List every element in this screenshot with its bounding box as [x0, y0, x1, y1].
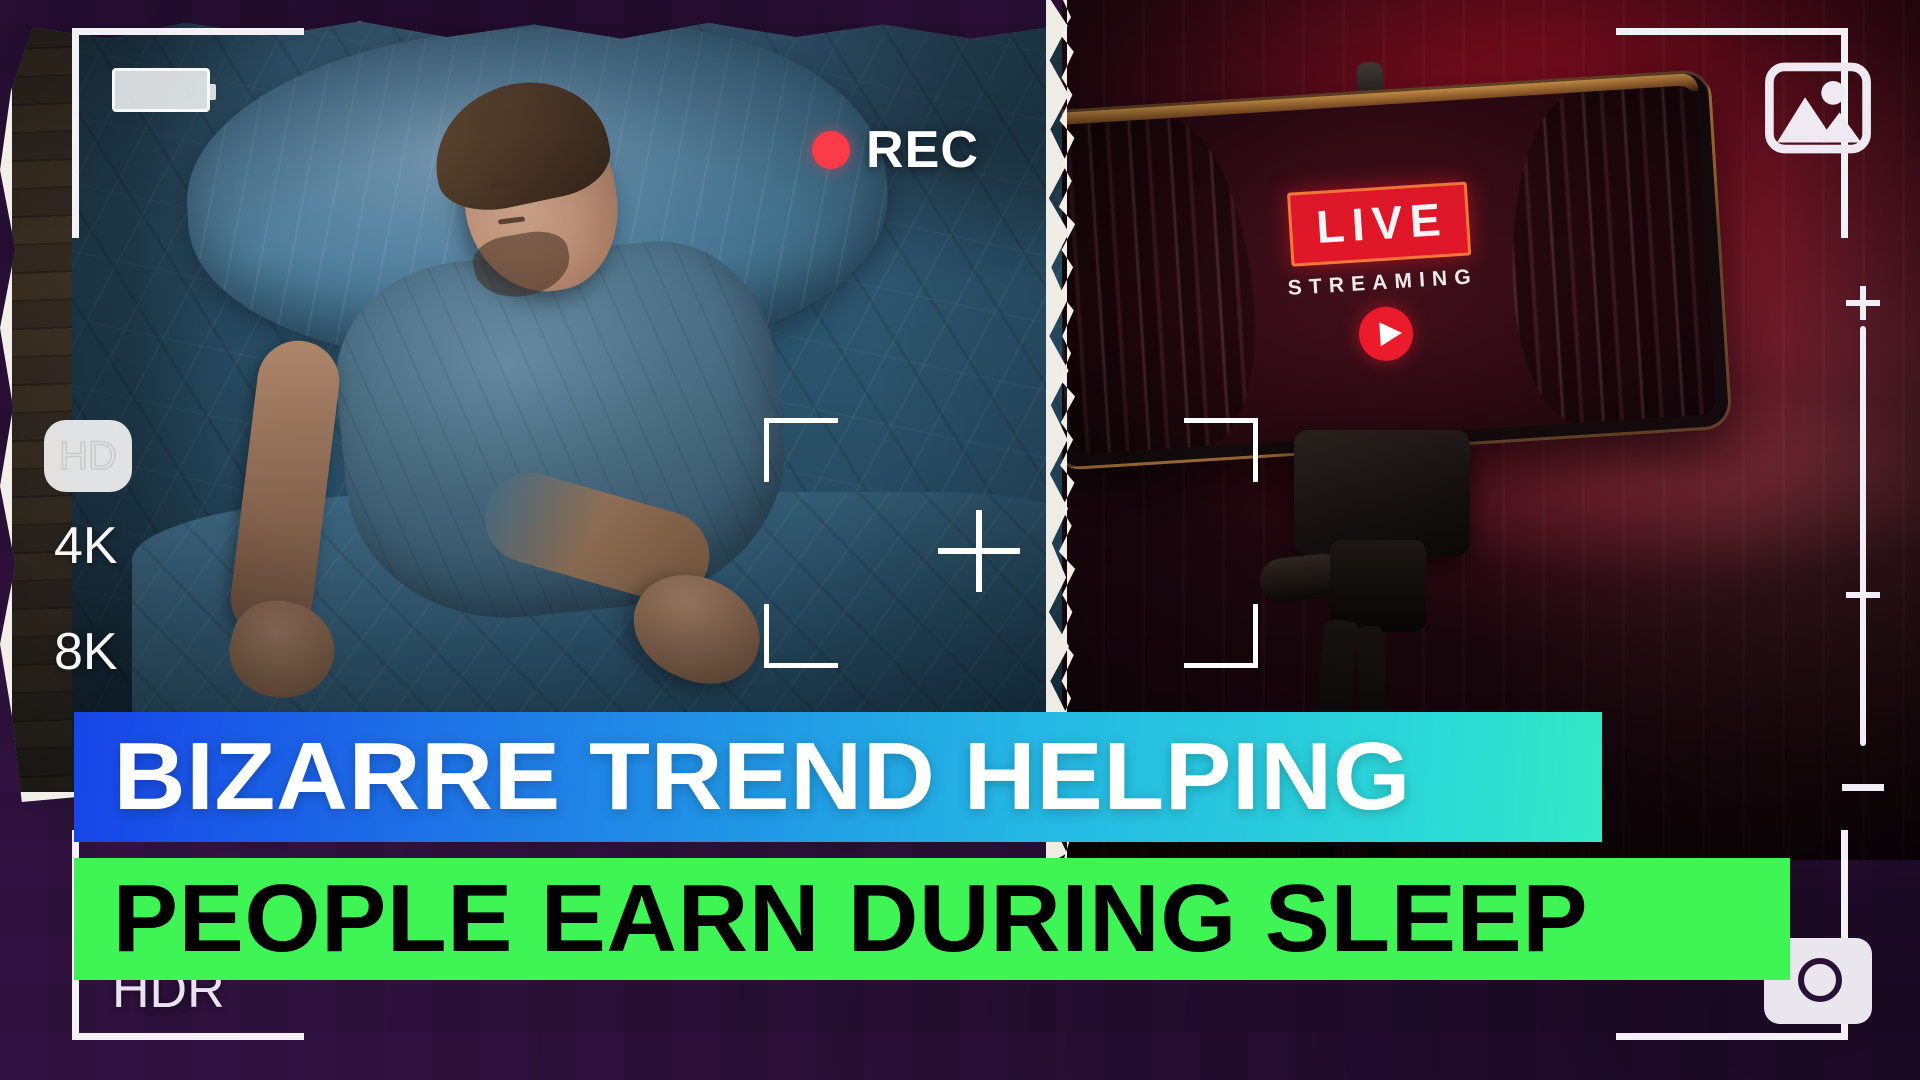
focus-bracket-icon	[1184, 418, 1258, 482]
image-photo-icon[interactable]	[1764, 58, 1872, 158]
headline-banner-primary: BIZARRE TREND HELPING	[74, 712, 1602, 842]
tick-icon	[1846, 592, 1880, 598]
quality-label-4k[interactable]: 4K	[54, 516, 118, 576]
recording-indicator: REC	[812, 120, 979, 180]
recording-status-label: REC	[866, 120, 979, 180]
battery-icon	[112, 68, 210, 112]
zoom-slider-track[interactable]	[1860, 326, 1866, 746]
corner-bracket-icon	[72, 28, 304, 238]
focus-bracket-icon	[764, 604, 838, 668]
record-dot-icon	[812, 131, 850, 169]
hd-label: HD	[59, 434, 117, 479]
quality-label-8k[interactable]: 8K	[54, 622, 118, 682]
focus-bracket-icon	[764, 418, 838, 482]
minus-icon[interactable]	[1842, 784, 1884, 791]
headline-line-1: BIZARRE TREND HELPING	[74, 729, 1411, 825]
headline-line-2: PEOPLE EARN DURING SLEEP	[74, 871, 1588, 967]
headline-banner-secondary: PEOPLE EARN DURING SLEEP	[74, 858, 1790, 980]
hd-quality-badge[interactable]: HD	[44, 420, 132, 492]
plus-icon[interactable]	[1846, 286, 1880, 320]
camera-lens-icon	[1798, 958, 1842, 1002]
focus-bracket-icon	[1184, 604, 1258, 668]
crosshair-icon	[938, 510, 1020, 592]
thumbnail-canvas: LIVE STREAMING REC	[0, 0, 1920, 1080]
